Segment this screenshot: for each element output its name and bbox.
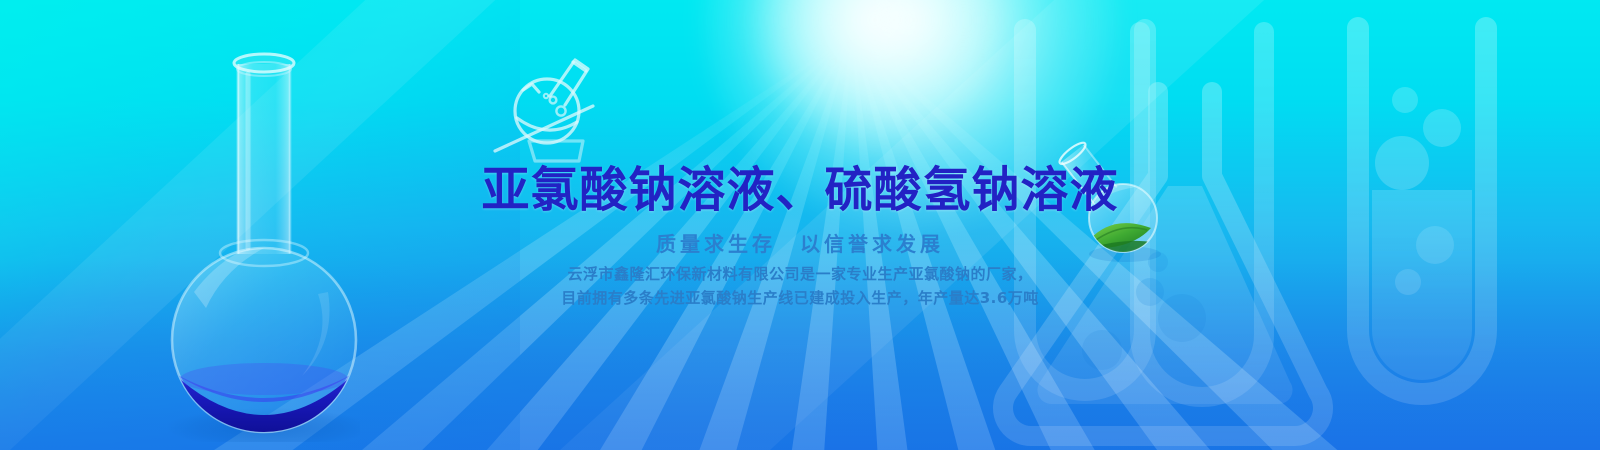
bubble (1158, 294, 1206, 342)
round-bottom-flask-blue (168, 42, 360, 442)
bubble (1416, 226, 1454, 264)
bubble (544, 94, 548, 98)
flask-line-icon (487, 48, 607, 163)
test-tube-outline-c (1358, 28, 1486, 394)
bubble (1104, 183, 1107, 186)
tilted-flask-green-leaf (1053, 118, 1173, 268)
bubble (556, 106, 565, 115)
bubble (1392, 87, 1418, 113)
bubble (1136, 278, 1164, 306)
bubble (1082, 330, 1122, 370)
bubble (1423, 109, 1461, 147)
bubble (1375, 136, 1429, 190)
bubble (1095, 189, 1099, 193)
bubble (1395, 269, 1421, 295)
chemical-product-banner: 亚氯酸钠溶液、硫酸氢钠溶液 质量求生存 以信誉求发展 云浮市鑫隆汇环保新材料有限… (0, 0, 1600, 450)
bubble (550, 97, 557, 104)
